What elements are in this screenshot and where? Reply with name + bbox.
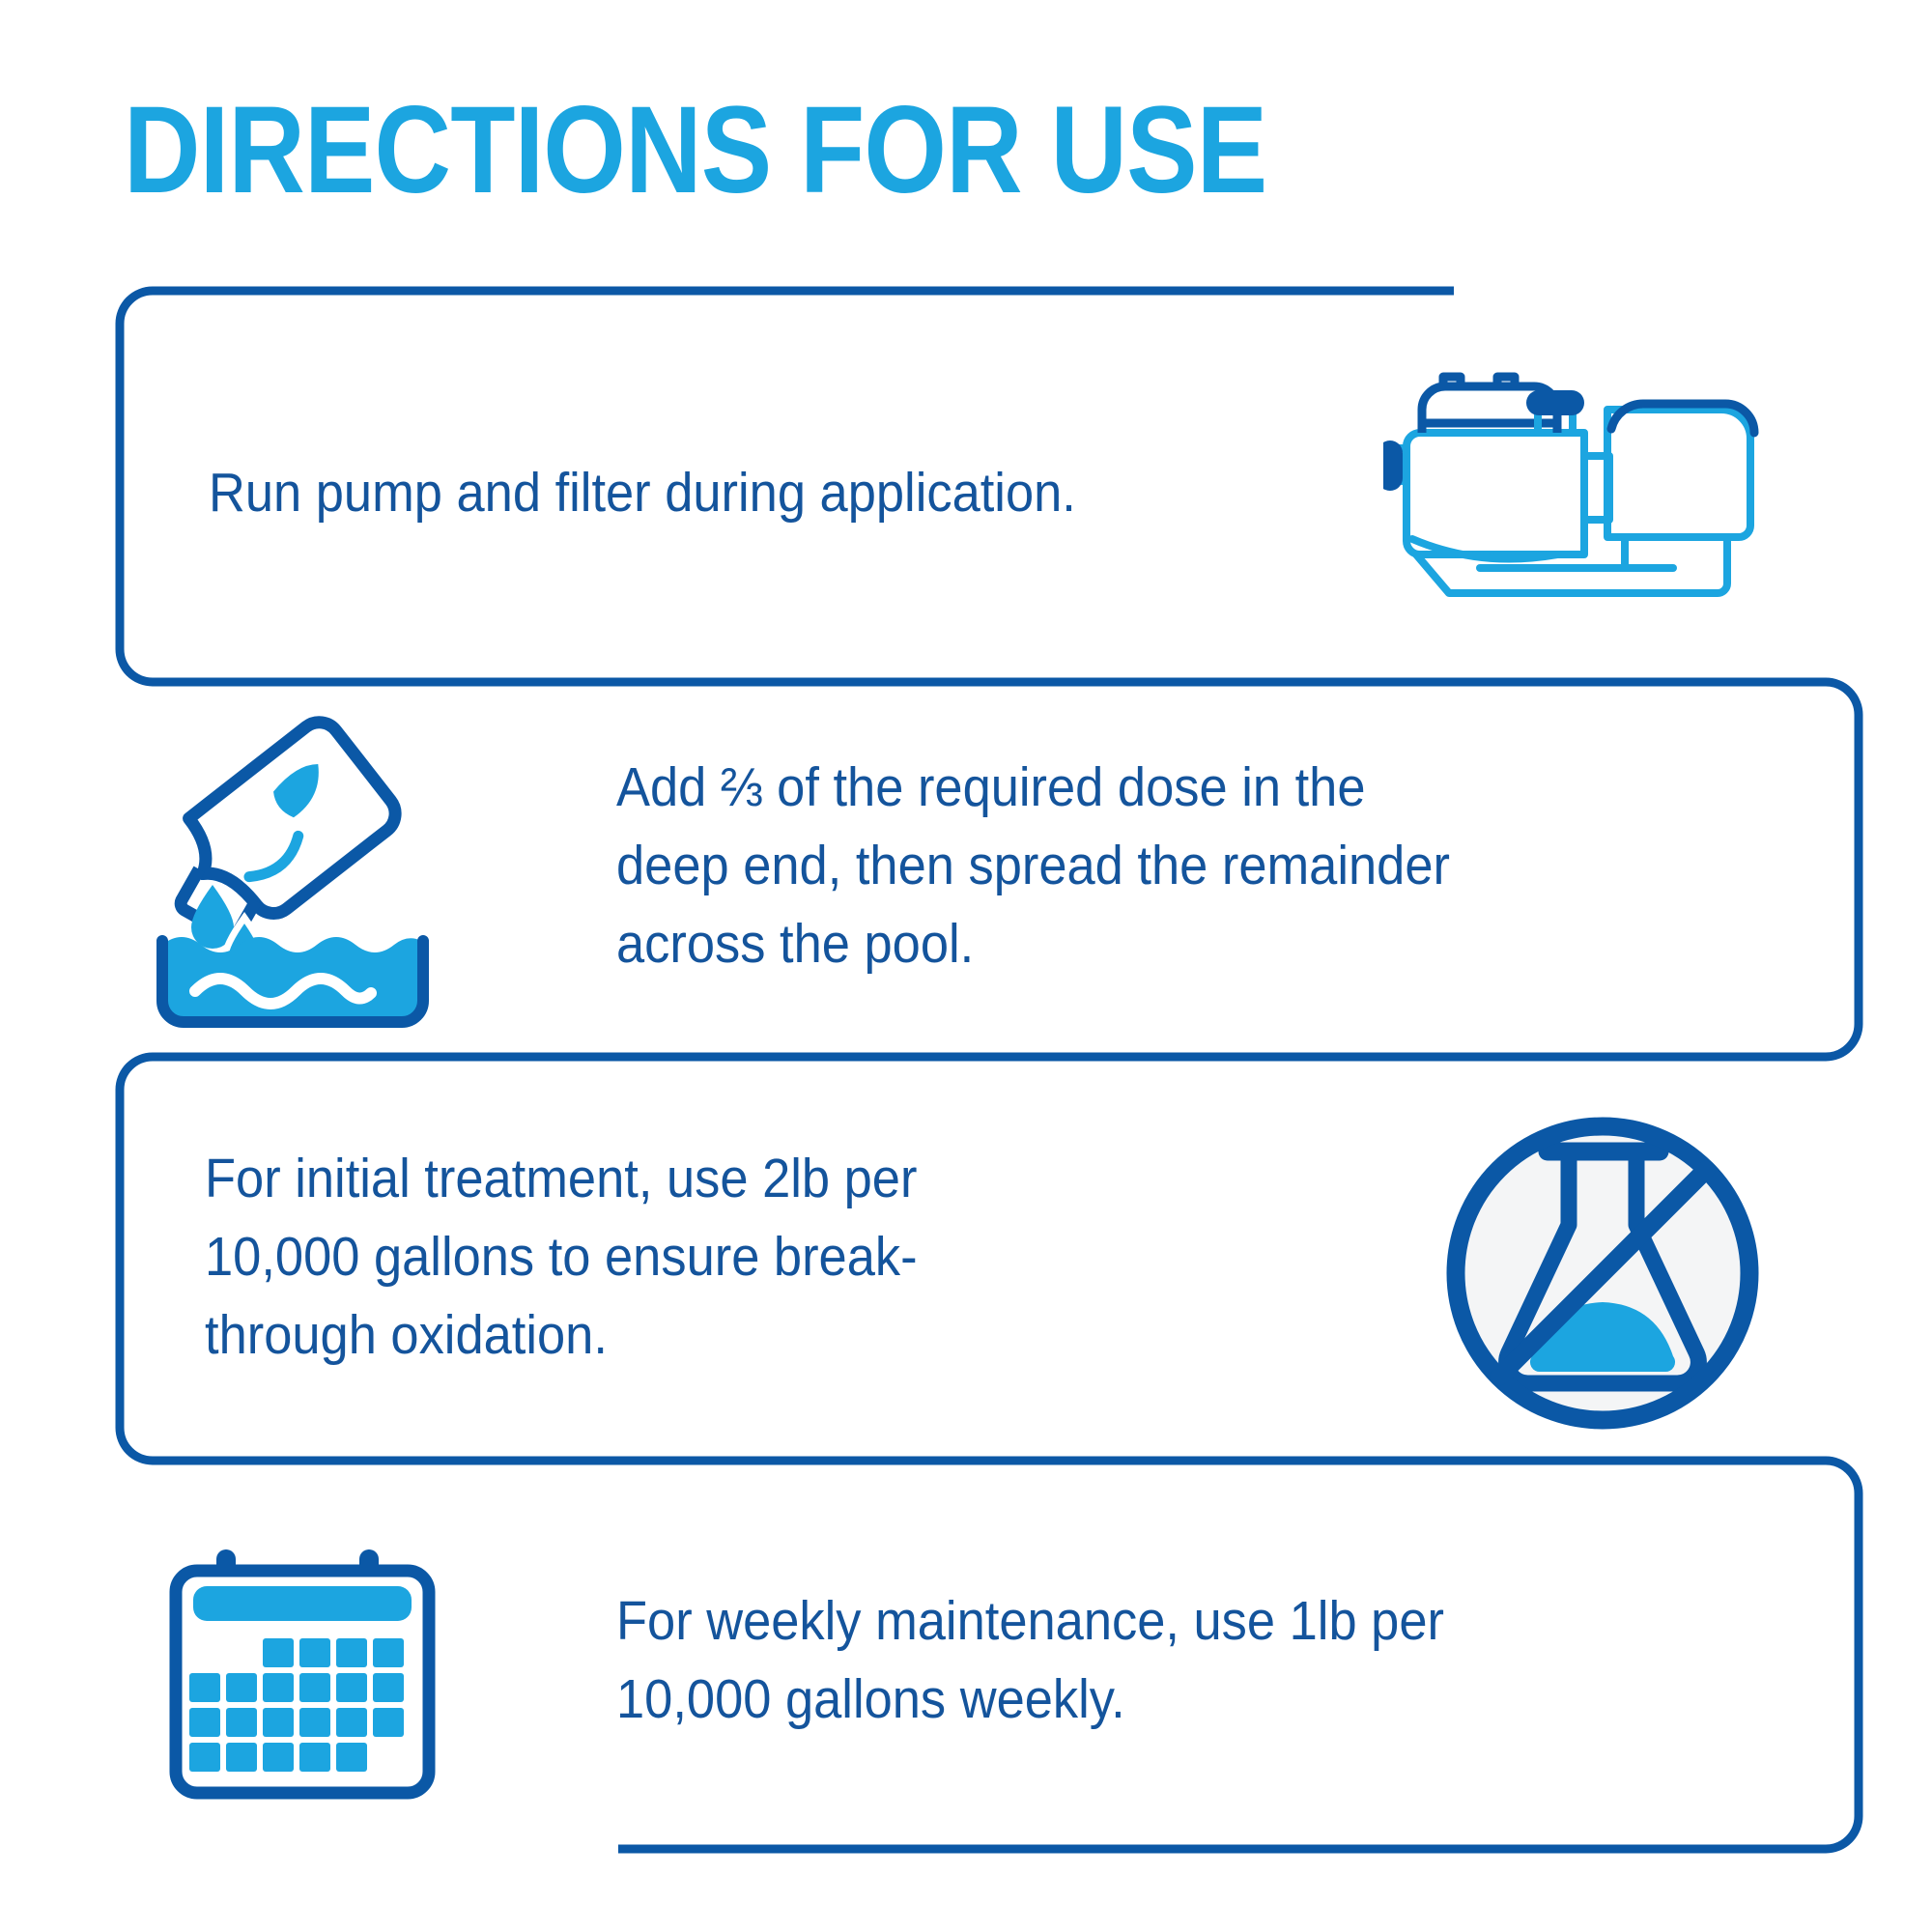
- calendar-day-cell: [299, 1673, 330, 1702]
- calendar-day-cell: [373, 1708, 404, 1737]
- calendar-day-cell: [263, 1708, 294, 1737]
- calendar-icon: [162, 1546, 452, 1806]
- calendar-day-cell: [299, 1638, 330, 1667]
- pump-inlet-cap: [1383, 440, 1403, 491]
- step-2-line-3: across the pool.: [616, 905, 1450, 983]
- calendar-day-cell: [336, 1638, 367, 1667]
- calendar-day-cell: [336, 1708, 367, 1737]
- bottle-swoosh: [248, 836, 306, 885]
- calendar-day-cell: [226, 1708, 257, 1737]
- page-title: DIRECTIONS FOR USE: [124, 89, 1266, 213]
- step-3-line-3: through oxidation.: [205, 1296, 918, 1375]
- step-3-line-2: 10,000 gallons to ensure break-: [205, 1218, 918, 1296]
- pump-outlet-cap: [1526, 390, 1584, 415]
- calendar-day-cell: [263, 1673, 294, 1702]
- calendar-day-cell: [299, 1708, 330, 1737]
- pump-body-outline: [1406, 433, 1584, 554]
- step-2-text: Add ⅔ of the required dose in the deep e…: [616, 749, 1450, 983]
- no-chemicals-icon: [1434, 1103, 1772, 1443]
- calendar-day-cell: [263, 1638, 294, 1667]
- step-2-line-1: Add ⅔ of the required dose in the: [616, 749, 1450, 827]
- calendar-day-cell: [189, 1673, 220, 1702]
- calendar-day-cell: [336, 1743, 367, 1772]
- calendar-day-cell: [299, 1743, 330, 1772]
- step-1-text: Run pump and filter during application.: [209, 454, 1076, 532]
- pump-motor-cap: [1611, 404, 1754, 433]
- pool-pump-icon: [1383, 340, 1770, 601]
- calendar-day-cell: [226, 1743, 257, 1772]
- step-1-line-1: Run pump and filter during application.: [209, 454, 1076, 532]
- step-3-text: For initial treatment, use 2lb per 10,00…: [205, 1140, 918, 1375]
- calendar-header-band: [193, 1586, 412, 1621]
- step-4-line-1: For weekly maintenance, use 1lb per: [616, 1582, 1444, 1661]
- step-4-line-2: 10,000 gallons weekly.: [616, 1661, 1444, 1739]
- calendar-day-cell: [373, 1638, 404, 1667]
- calendar-day-cell: [336, 1673, 367, 1702]
- bottle-label-leaf: [268, 757, 334, 821]
- calendar-day-cell: [189, 1708, 220, 1737]
- step-4-text: For weekly maintenance, use 1lb per 10,0…: [616, 1582, 1444, 1739]
- step-3-line-1: For initial treatment, use 2lb per: [205, 1140, 918, 1218]
- calendar-day-cell: [189, 1743, 220, 1772]
- infographic-root: DIRECTIONS FOR USE Run pump and filter d…: [0, 0, 1932, 1932]
- step-2-line-2: deep end, then spread the remainder: [616, 827, 1450, 905]
- calendar-day-cell: [373, 1673, 404, 1702]
- calendar-day-cell: [263, 1743, 294, 1772]
- calendar-day-cell: [226, 1673, 257, 1702]
- pouring-bottle-icon: [153, 713, 471, 1041]
- pump-motor-outline: [1607, 410, 1750, 537]
